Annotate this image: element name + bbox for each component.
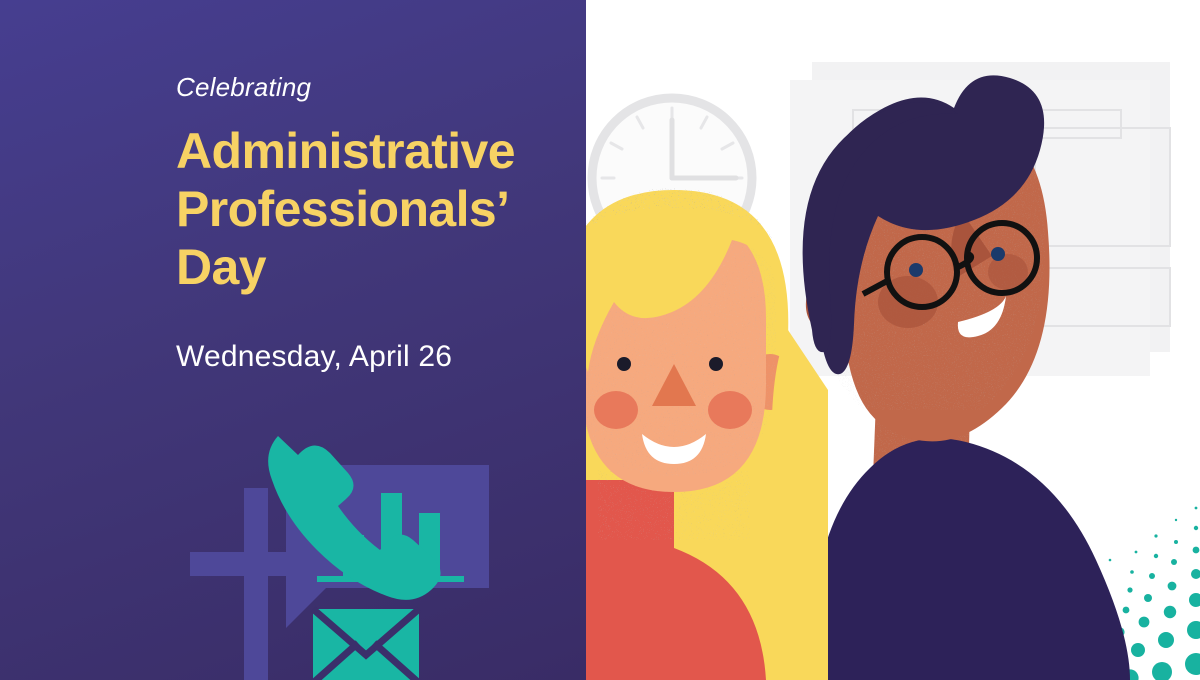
man-eye-right (991, 247, 1005, 261)
title-line-1: Administrative (176, 122, 576, 180)
page-title: Administrative Professionals’ Day (176, 122, 576, 296)
poster-canvas: Celebrating Administrative Professionals… (0, 0, 1200, 680)
woman-cheek-left (594, 391, 638, 429)
title-line-3: Day (176, 238, 576, 296)
man-head (843, 114, 1050, 441)
man-ear (806, 267, 852, 335)
woman-eye-right (709, 357, 723, 371)
woman-smile (642, 434, 706, 464)
man-hair (809, 75, 1044, 374)
wall-clock (592, 98, 752, 258)
man-sweater (811, 438, 1130, 680)
halftone-dots-decoration (1020, 507, 1200, 680)
woman-hair-front (560, 190, 789, 372)
man-eye-left (909, 263, 923, 277)
title-line-2: Professionals’ (176, 180, 576, 238)
man-smile (958, 296, 1006, 337)
kicker-text: Celebrating (176, 72, 311, 103)
event-date: Wednesday, April 26 (176, 340, 452, 374)
glasses-icon (863, 223, 1037, 307)
woman-hair-back (560, 194, 788, 680)
woman-nose (652, 364, 696, 406)
woman-cheek-right (708, 391, 752, 429)
woman-face (582, 214, 766, 492)
whiteboard (790, 62, 1170, 376)
woman-ear-right (746, 354, 794, 410)
woman-eye-left (617, 357, 631, 371)
man-character (803, 75, 1130, 680)
man-cheek (878, 276, 938, 328)
man-nose (951, 212, 992, 278)
